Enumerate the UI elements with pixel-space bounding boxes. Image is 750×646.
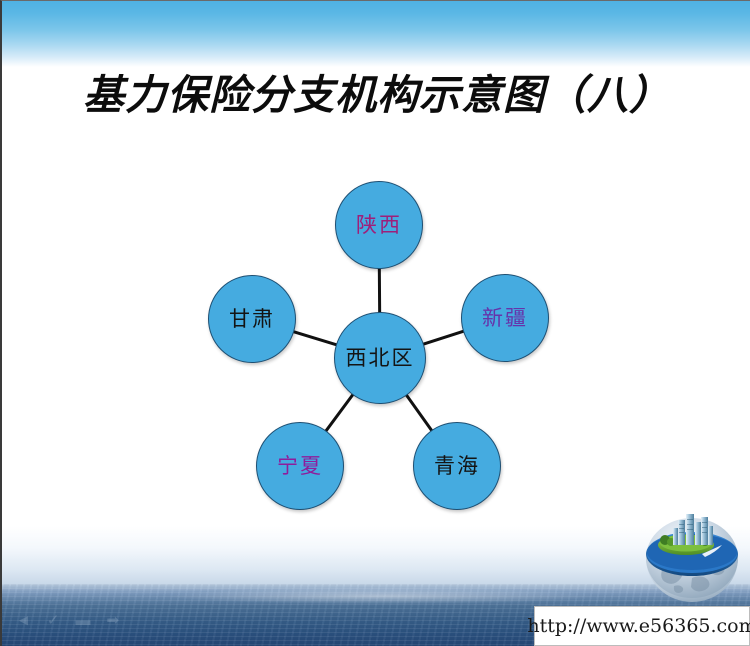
diagram-node-label: 西北区 [346,348,415,369]
org-diagram: 陕西甘肃新疆宁夏青海西北区 [2,1,750,646]
slide-canvas: ◄ ✓ ▬ ➡ 基力保险分支机构示意图（八） 陕西甘肃新疆宁夏青海西北区 [0,0,750,646]
globe-city-logo [640,512,744,604]
diagram-edge-4 [326,394,354,431]
diagram-node-2[interactable]: 甘肃 [208,275,296,363]
diagram-node-4[interactable]: 宁夏 [256,422,344,510]
diagram-node-5[interactable]: 青海 [413,422,501,510]
diagram-edge-5 [406,395,432,431]
diagram-node-label: 青海 [434,456,480,477]
diagram-node-3[interactable]: 新疆 [461,274,549,362]
diagram-edge-2 [293,332,337,345]
website-url-text: http://www.e56365.com [527,615,750,637]
diagram-edge-3 [423,331,464,344]
diagram-node-1[interactable]: 陕西 [335,181,423,269]
diagram-node-label: 甘肃 [229,309,275,330]
diagram-node-label: 陕西 [356,215,402,236]
diagram-node-label: 新疆 [482,308,528,329]
website-url-plate[interactable]: http://www.e56365.com [534,606,750,646]
diagram-node-center[interactable]: 西北区 [334,312,426,404]
diagram-node-label: 宁夏 [277,456,323,477]
